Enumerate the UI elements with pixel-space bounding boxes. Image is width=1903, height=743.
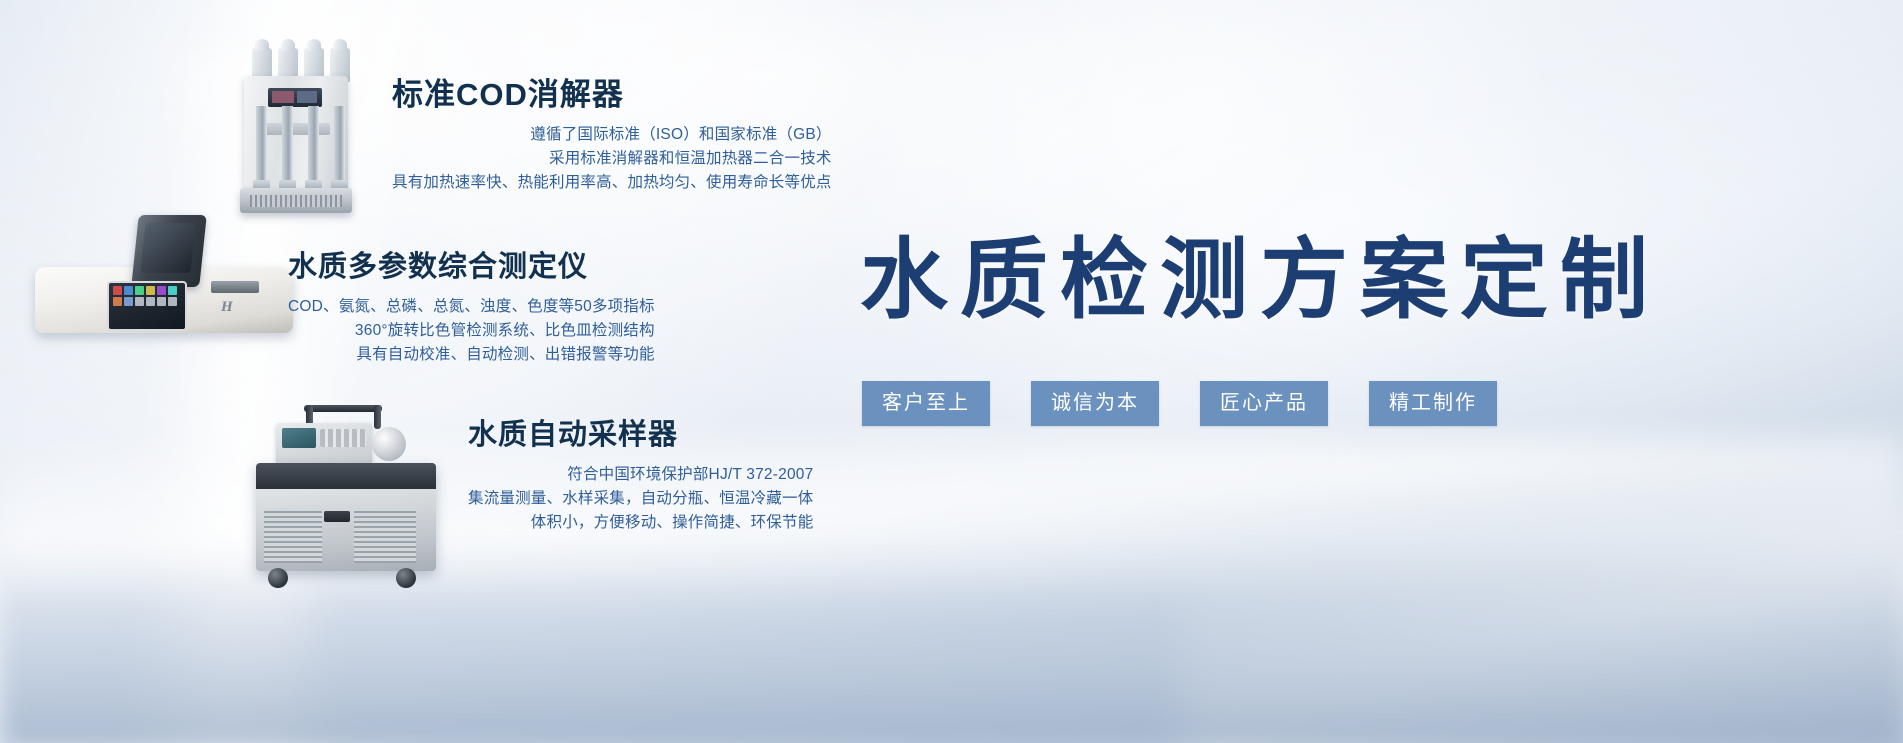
tag-fine-manufacturing[interactable]: 精工制作	[1369, 381, 1497, 426]
product-description-cod-digester: 遵循了国际标准（ISO）和国家标准（GB） 采用标准消解器和恒温加热器二合一技术…	[392, 123, 832, 195]
product-line: 体积小，方便移动、操作简捷、环保节能	[468, 511, 813, 535]
multiparameter-analyzer-icon: H	[35, 215, 300, 340]
background-light-streak-4	[1180, 380, 1903, 743]
product-line: 具有自动校准、自动检测、出错报警等功能	[288, 343, 655, 367]
tag-craftsmanship-product[interactable]: 匠心产品	[1200, 381, 1328, 426]
product-line: 360°旋转比色管检测系统、比色皿检测结构	[288, 319, 655, 343]
auto-sampler-icon	[246, 405, 461, 590]
product-title-cod-digester: 标准COD消解器	[392, 78, 832, 112]
product-title-auto-sampler: 水质自动采样器	[468, 420, 813, 452]
promo-banner: 标准COD消解器 遵循了国际标准（ISO）和国家标准（GB） 采用标准消解器和恒…	[0, 0, 1903, 743]
product-line: 符合中国环境保护部HJ/T 372-2007	[468, 463, 813, 487]
product-line: 采用标准消解器和恒温加热器二合一技术	[392, 147, 832, 171]
product-line: 遵循了国际标准（ISO）和国家标准（GB）	[392, 123, 832, 147]
product-line: 集流量测量、水样采集，自动分瓶、恒温冷藏一体	[468, 487, 813, 511]
cod-digester-icon	[238, 48, 356, 213]
tag-row: 客户至上 诚信为本 匠心产品 精工制作	[862, 381, 1882, 426]
product-description-multiparameter-analyzer: COD、氨氮、总磷、总氮、浊度、色度等50多项指标 360°旋转比色管检测系统、…	[288, 295, 655, 367]
product-line: 具有加热速率快、热能利用率高、加热均匀、使用寿命长等优点	[392, 171, 832, 195]
tag-integrity-based[interactable]: 诚信为本	[1031, 381, 1159, 426]
brand-mark: H	[221, 299, 245, 315]
product-line: COD、氨氮、总磷、总氮、浊度、色度等50多项指标	[288, 295, 655, 319]
page-title: 水质检测方案定制	[860, 236, 1870, 324]
tag-customer-first[interactable]: 客户至上	[862, 381, 990, 426]
product-title-multiparameter-analyzer: 水质多参数综合测定仪	[288, 252, 655, 284]
product-description-auto-sampler: 符合中国环境保护部HJ/T 372-2007 集流量测量、水样采集，自动分瓶、恒…	[468, 463, 813, 535]
